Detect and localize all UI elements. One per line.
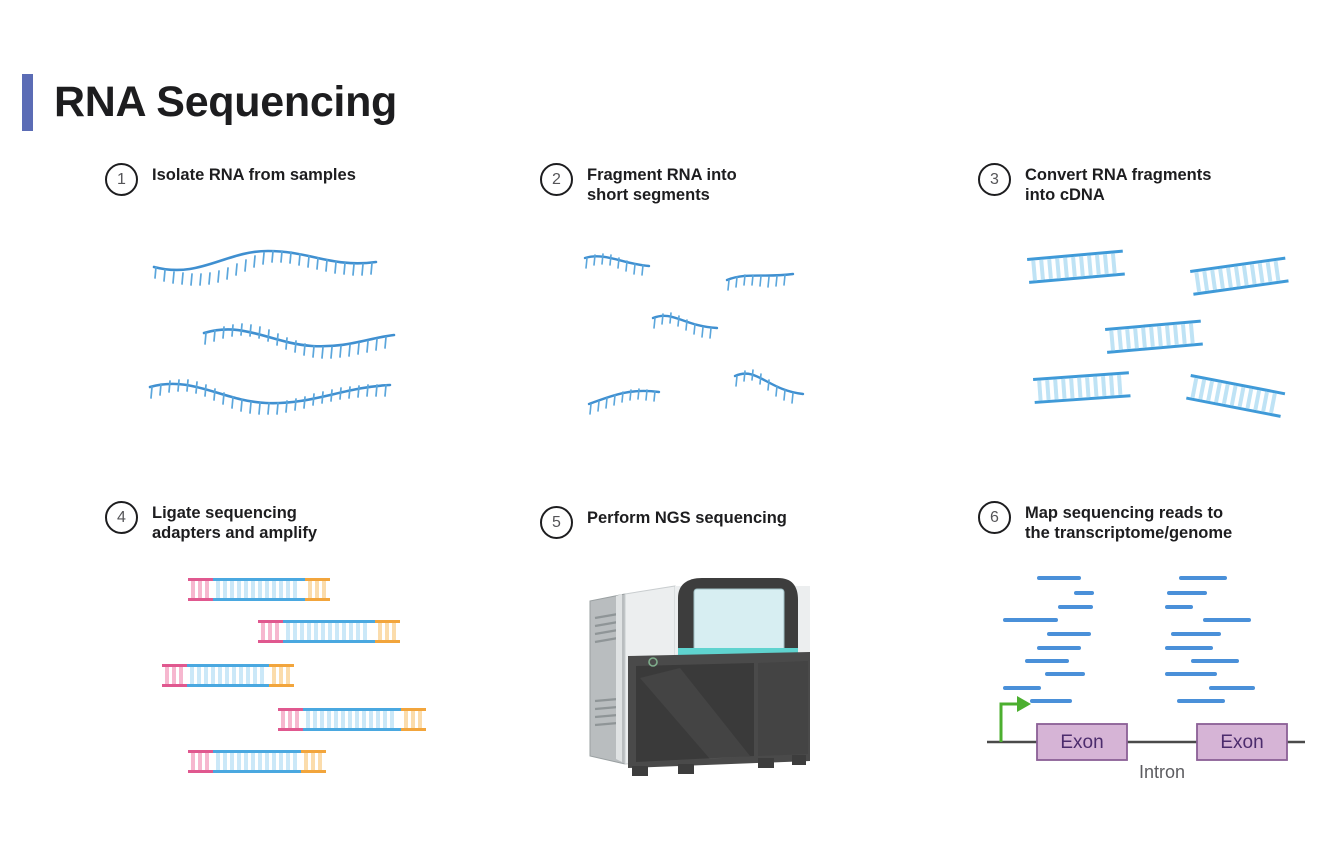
step-3-label: Convert RNA fragments into cDNA bbox=[1025, 162, 1211, 206]
step-2-header: 2 Fragment RNA into short segments bbox=[540, 162, 737, 206]
step-5: 5 Perform NGS sequencing bbox=[540, 505, 787, 539]
rna-strand-1 bbox=[154, 251, 376, 285]
rna-strand-2 bbox=[204, 324, 394, 358]
rna-fragments-svg bbox=[575, 240, 865, 425]
cdna-duplex-3 bbox=[1105, 320, 1203, 354]
read-pileup-right bbox=[1165, 576, 1255, 703]
step-5-label: Perform NGS sequencing bbox=[587, 505, 787, 528]
library-fragment-3 bbox=[162, 664, 294, 687]
step-4-illustration bbox=[150, 568, 440, 783]
step-6-illustration: Exon Exon Intron bbox=[975, 560, 1315, 805]
read-pileup-left bbox=[1003, 576, 1094, 703]
rna-fragment-4 bbox=[735, 370, 803, 403]
rna-fragment-2 bbox=[727, 274, 793, 290]
step-5-header: 5 Perform NGS sequencing bbox=[540, 505, 787, 539]
rna-strand-3 bbox=[150, 380, 390, 414]
sequencer-front-cabinet bbox=[628, 652, 810, 768]
exon-left-label: Exon bbox=[1060, 732, 1103, 753]
step-4: 4 Ligate sequencing adapters and amplify bbox=[105, 500, 317, 544]
exon-right: Exon bbox=[1197, 724, 1287, 760]
library-fragment-4 bbox=[278, 708, 426, 731]
library-fragment-2 bbox=[258, 620, 400, 643]
ngs-sequencer-svg bbox=[560, 556, 860, 806]
exon-left: Exon bbox=[1037, 724, 1127, 760]
step-1-header: 1 Isolate RNA from samples bbox=[105, 162, 356, 196]
cdna-duplexes-svg bbox=[1015, 242, 1300, 422]
step-4-number: 4 bbox=[105, 501, 138, 534]
step-4-label: Ligate sequencing adapters and amplify bbox=[152, 500, 317, 544]
step-4-header: 4 Ligate sequencing adapters and amplify bbox=[105, 500, 317, 544]
exon-right-label: Exon bbox=[1220, 732, 1263, 753]
page-title: RNA Sequencing bbox=[54, 78, 397, 127]
step-3-illustration bbox=[1015, 242, 1300, 427]
rna-strands-svg bbox=[140, 235, 420, 425]
step-6-header: 6 Map sequencing reads to the transcript… bbox=[978, 500, 1232, 544]
step-3-number: 3 bbox=[978, 163, 1011, 196]
title-accent-bar bbox=[22, 74, 33, 131]
sequencer-screen-housing bbox=[678, 578, 798, 655]
step-1-label: Isolate RNA from samples bbox=[152, 162, 356, 185]
step-1-illustration bbox=[140, 235, 420, 430]
step-2-label: Fragment RNA into short segments bbox=[587, 162, 737, 206]
rna-fragment-5 bbox=[589, 389, 659, 414]
page-title-block: RNA Sequencing bbox=[22, 74, 397, 131]
step-3: 3 Convert RNA fragments into cDNA bbox=[978, 162, 1211, 206]
cdna-duplex-4 bbox=[1033, 371, 1131, 404]
step-5-number: 5 bbox=[540, 506, 573, 539]
tss-arrow-icon bbox=[1001, 696, 1031, 742]
cdna-duplex-1 bbox=[1027, 250, 1125, 284]
cdna-duplex-2 bbox=[1190, 257, 1289, 296]
library-fragment-5 bbox=[188, 750, 326, 773]
step-2: 2 Fragment RNA into short segments bbox=[540, 162, 737, 206]
intron-label: Intron bbox=[1139, 762, 1185, 782]
step-6-label: Map sequencing reads to the transcriptom… bbox=[1025, 500, 1232, 544]
read-alignment-svg: Exon Exon Intron bbox=[975, 560, 1315, 800]
step-2-number: 2 bbox=[540, 163, 573, 196]
step-1-number: 1 bbox=[105, 163, 138, 196]
sequencer-screen bbox=[694, 589, 784, 651]
step-3-header: 3 Convert RNA fragments into cDNA bbox=[978, 162, 1211, 206]
step-6: 6 Map sequencing reads to the transcript… bbox=[978, 500, 1232, 544]
library-fragment-1 bbox=[188, 578, 330, 601]
step-2-illustration bbox=[575, 240, 865, 430]
step-6-number: 6 bbox=[978, 501, 1011, 534]
rna-fragment-3 bbox=[653, 313, 717, 338]
step-5-illustration bbox=[560, 556, 860, 811]
sequencer-door-right bbox=[758, 661, 808, 756]
rna-fragment-1 bbox=[585, 254, 649, 275]
sequencer-body-edge bbox=[616, 594, 622, 762]
step-1: 1 Isolate RNA from samples bbox=[105, 162, 356, 196]
adapter-library-svg bbox=[150, 568, 440, 778]
cdna-duplex-5 bbox=[1186, 374, 1285, 418]
